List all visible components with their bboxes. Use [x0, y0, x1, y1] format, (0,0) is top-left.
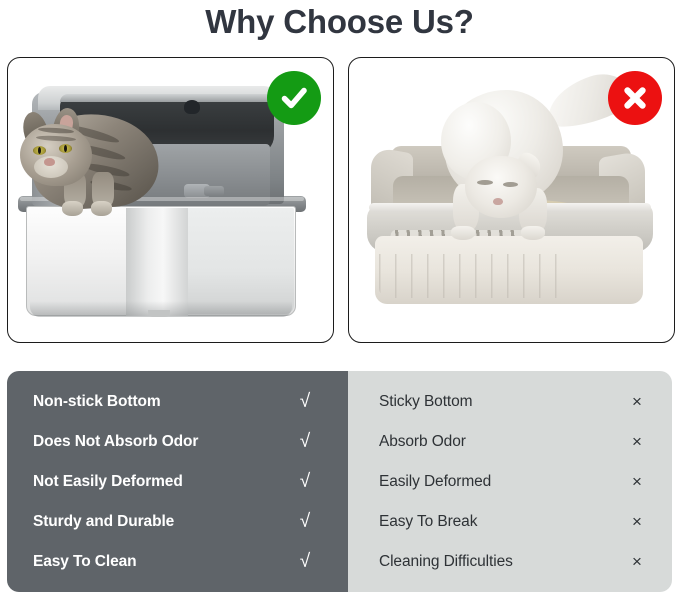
table-row: Sticky Bottom × [348, 382, 672, 422]
page-title: Why Choose Us? [0, 2, 679, 42]
pros-column: Non-stick Bottom √ Does Not Absorb Odor … [7, 371, 348, 592]
table-row: Non-stick Bottom √ [7, 382, 348, 422]
pros-row-label: Sturdy and Durable [33, 513, 295, 531]
product-card-bad[interactable] [348, 57, 675, 343]
cons-row-label: Sticky Bottom [379, 393, 627, 411]
cross-mark-icon: × [627, 393, 647, 411]
check-mark-icon: √ [295, 433, 315, 451]
cons-row-label: Absorb Odor [379, 433, 627, 451]
check-mark-icon: √ [295, 513, 315, 531]
pros-row-label: Does Not Absorb Odor [33, 433, 295, 451]
table-row: Sturdy and Durable √ [7, 502, 348, 542]
pros-row-label: Not Easily Deformed [33, 473, 295, 491]
cons-row-label: Easily Deformed [379, 473, 627, 491]
check-circle-icon [267, 71, 321, 125]
table-row: Not Easily Deformed √ [7, 462, 348, 502]
cross-mark-icon: × [627, 553, 647, 571]
cross-mark-icon: × [627, 513, 647, 531]
cross-mark-icon: × [627, 473, 647, 491]
check-mark-icon: √ [295, 393, 315, 411]
cross-mark-icon: × [627, 433, 647, 451]
check-mark-icon: √ [295, 473, 315, 491]
table-row: Easy To Break × [348, 502, 672, 542]
table-row: Easily Deformed × [348, 462, 672, 502]
cons-column: Sticky Bottom × Absorb Odor × Easily Def… [348, 371, 672, 592]
cons-row-label: Easy To Break [379, 513, 627, 531]
table-row: Absorb Odor × [348, 422, 672, 462]
check-mark-icon: √ [295, 553, 315, 571]
table-row: Cleaning Difficulties × [348, 542, 672, 582]
x-circle-icon [608, 71, 662, 125]
comparison-cards [7, 57, 672, 345]
pros-row-label: Non-stick Bottom [33, 393, 295, 411]
pros-row-label: Easy To Clean [33, 553, 295, 571]
cons-row-label: Cleaning Difficulties [379, 553, 627, 571]
comparison-table: Non-stick Bottom √ Does Not Absorb Odor … [7, 371, 672, 592]
table-row: Does Not Absorb Odor √ [7, 422, 348, 462]
table-row: Easy To Clean √ [7, 542, 348, 582]
product-card-good[interactable] [7, 57, 334, 343]
